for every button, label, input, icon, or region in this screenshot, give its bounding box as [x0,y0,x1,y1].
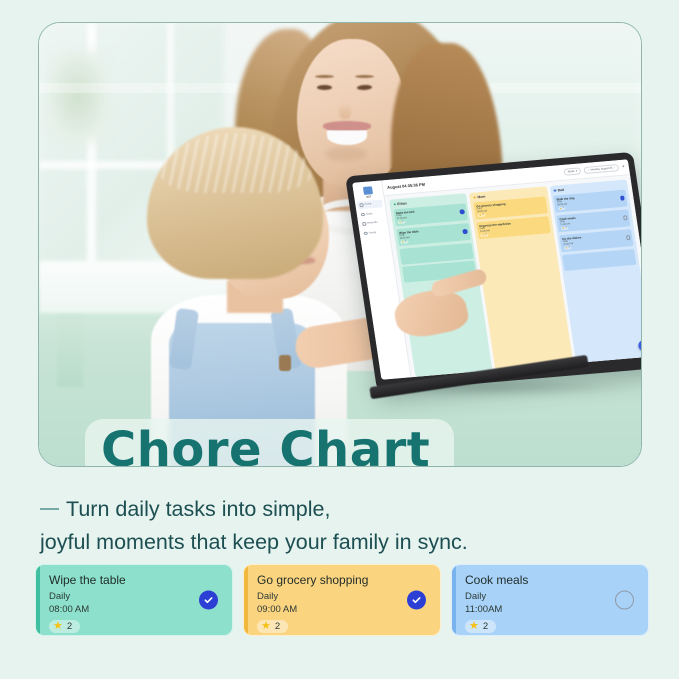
task-time: 08:00 AM [49,603,221,616]
task-card-cook-meals[interactable]: Cook meals Daily 11:00AM ★ 2 [451,564,649,636]
sidebar-item-tasks[interactable]: Tasks [358,209,384,219]
date-navigator[interactable]: ‹ Monday, August 04 › [584,164,620,174]
task-points-value: 2 [67,621,72,632]
hero-photo: SCT Home Tasks Rewards [38,22,642,467]
view-select[interactable]: Week ▾ [563,167,581,175]
board-task-points: ★ 2 [561,226,569,230]
board-task-card[interactable]: Go grocery shopping Daily 09:00 AM ★ 2 [473,196,548,220]
board-task-points: ★ 2 [558,206,566,210]
mother-eye-left [317,85,332,90]
hero-title-badge: Chore Chart [85,419,454,467]
board-task-points: ★ 2 [477,213,485,217]
avatar-dot-icon [393,203,396,206]
board-task-points-value: 2 [482,214,484,216]
board-empty-slot[interactable] [562,249,637,271]
task-title: Wipe the table [49,574,221,587]
chevron-right-icon[interactable]: › [614,166,615,169]
sidebar-item-family[interactable]: Family [361,228,387,238]
subtitle-line-1-text: Turn daily tasks into simple, [66,497,330,521]
table-leg [57,315,83,387]
star-icon: ★ [565,247,568,250]
star-icon: ★ [562,227,565,230]
board-task-points-value: 2 [485,234,487,236]
task-title: Go grocery shopping [257,574,429,587]
tablet-main: August 04 05:36 PM Week ▾ ‹ Monday, Augu… [382,159,642,377]
board-task-points-value: 2 [568,247,570,249]
chevron-down-icon: ▾ [576,170,578,173]
task-points-value: 2 [483,621,488,632]
tablet-screen[interactable]: SCT Home Tasks Rewards [352,159,642,379]
board-column-ethan-name: Ethan [397,201,407,206]
star-icon: ★ [469,621,479,632]
task-points-badge: ★ 2 [49,620,80,633]
child-overall-buckle [279,355,291,371]
sidebar-item-rewards[interactable]: Rewards [360,218,386,228]
board-task-points: ★ 2 [564,246,572,250]
date-navigator-label: Monday, August 04 [590,167,612,172]
tasks-icon [361,212,365,216]
star-icon: ★ [261,621,271,632]
topbar-actions: Week ▾ ‹ Monday, August 04 › + [563,164,625,176]
avatar-dot-icon [553,189,556,192]
sidebar-item-family-label: Family [368,231,376,235]
board-task-card[interactable]: Wipe the table Daily 08:00 AM ★ 2 [396,223,471,247]
mother-eyebrow-left [315,75,334,78]
task-time: 09:00 AM [257,603,429,616]
board-task-card[interactable]: Make the bed Daily 07:00 AM ★ 2 [393,203,468,227]
check-circle-icon[interactable] [199,591,218,610]
task-card-wipe-the-table[interactable]: Wipe the table Daily 08:00 AM ★ 2 [35,564,233,636]
task-points-badge: ★ 2 [465,620,496,633]
board-task-points-value: 2 [405,241,407,243]
task-time: 11:00AM [465,603,637,616]
rewards-icon [362,222,366,226]
board-column-dad-name: Dad [557,188,564,193]
board-task-points-value: 2 [563,207,565,209]
board-task-card[interactable]: Organize the wardrobe Daily 10:00 AM ★ 2 [476,216,551,240]
sidebar-item-tasks-label: Tasks [366,212,373,216]
task-card-go-grocery-shopping[interactable]: Go grocery shopping Daily 09:00 AM ★ 2 [243,564,441,636]
avatar-dot-icon [473,196,476,199]
chevron-left-icon[interactable]: ‹ [588,169,589,172]
card-accent-stripe [36,565,40,635]
board-column-mom-name: Mom [477,195,485,200]
star-icon: ★ [479,214,482,217]
page-title: Chore Chart [101,426,430,467]
mother-eyebrow-right [355,75,374,78]
task-points-badge: ★ 2 [257,620,288,633]
board-task-points: ★ 2 [397,220,405,224]
task-board: Ethan Make the bed Daily 07:00 AM ★ 2 [384,175,642,377]
star-icon: ★ [402,240,405,243]
star-icon: ★ [399,221,402,224]
add-task-topbar-button[interactable]: + [622,165,626,170]
product-image-page: SCT Home Tasks Rewards [0,0,679,679]
tablet-device: SCT Home Tasks Rewards [345,152,642,392]
task-card-list: Wipe the table Daily 08:00 AM ★ 2 Go gro… [35,564,649,636]
board-task-card[interactable]: Walk the dog Daily 08:00 AM ★ 2 [553,189,628,213]
subtitle-line-1: Turn daily tasks into simple, [40,493,640,526]
check-circle-icon[interactable] [460,209,465,214]
empty-circle-icon[interactable] [623,216,628,221]
mother-chin-shadow [325,147,367,161]
task-title: Cook meals [465,574,637,587]
sidebar-item-rewards-label: Rewards [367,221,378,225]
sidebar-item-home-label: Home [364,203,371,207]
task-schedule: Daily [257,590,429,603]
card-accent-stripe [244,565,248,635]
plant-blur [47,51,109,143]
mother-lip [323,121,371,130]
check-circle-icon[interactable] [463,229,468,234]
board-task-points: ★ 2 [480,233,488,237]
app-logo-icon [363,186,373,195]
board-task-points-value: 2 [402,221,404,223]
board-task-points-value: 2 [566,227,568,229]
board-task-points: ★ 2 [400,240,408,244]
star-icon: ★ [559,207,562,210]
task-points-value: 2 [275,621,280,632]
mother-nose [339,103,351,119]
star-icon: ★ [482,234,485,237]
family-icon [363,231,367,235]
card-accent-stripe [452,565,456,635]
star-icon: ★ [53,621,63,632]
sidebar-item-home[interactable]: Home [357,199,383,209]
em-dash-icon [40,508,59,510]
date-header: August 04 05:36 PM [387,182,425,190]
check-circle-icon[interactable] [620,196,625,201]
empty-circle-icon[interactable] [615,591,634,610]
subtitle-line-2: joyful moments that keep your family in … [40,526,640,559]
task-schedule: Daily [465,590,637,603]
home-icon [359,203,363,207]
view-select-label: Week [568,170,575,174]
subtitle-block: Turn daily tasks into simple, joyful mom… [40,493,640,558]
board-task-card[interactable]: Cook meals Daily 11:00 AM ★ 2 [556,209,631,233]
task-schedule: Daily [49,590,221,603]
check-circle-icon[interactable] [407,591,426,610]
empty-circle-icon[interactable] [626,235,631,240]
